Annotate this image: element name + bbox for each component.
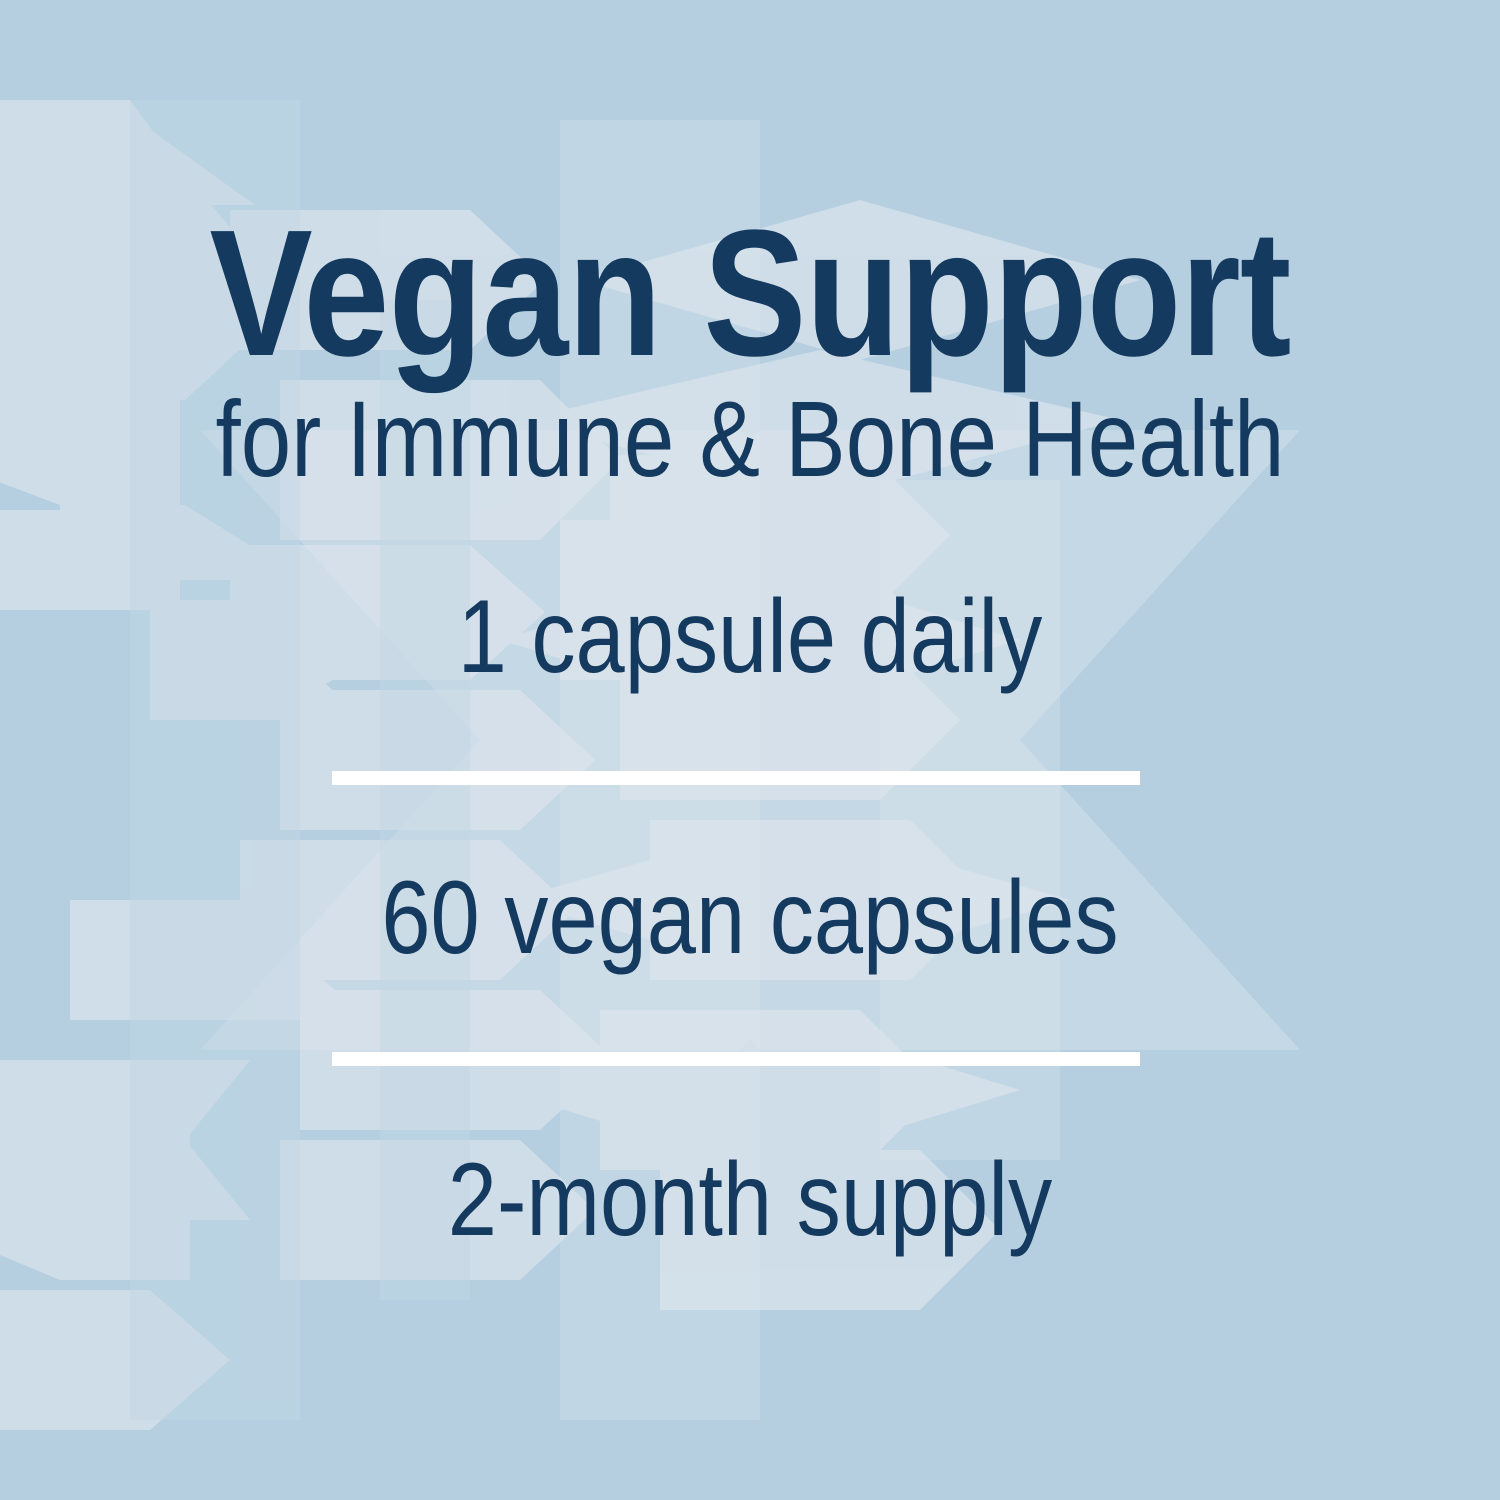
page-title: Vegan Support bbox=[105, 204, 1395, 384]
fact-supply: 2-month supply bbox=[113, 1148, 1388, 1252]
text-content: Vegan Support for Immune & Bone Health 1… bbox=[0, 0, 1500, 1500]
fact-count: 60 vegan capsules bbox=[113, 866, 1388, 970]
page-subtitle: for Immune & Bone Health bbox=[120, 385, 1380, 493]
divider-1 bbox=[332, 771, 1140, 785]
product-feature-card: Vegan Support for Immune & Bone Health 1… bbox=[0, 0, 1500, 1500]
fact-dosage: 1 capsule daily bbox=[113, 585, 1388, 689]
divider-2 bbox=[332, 1052, 1140, 1066]
